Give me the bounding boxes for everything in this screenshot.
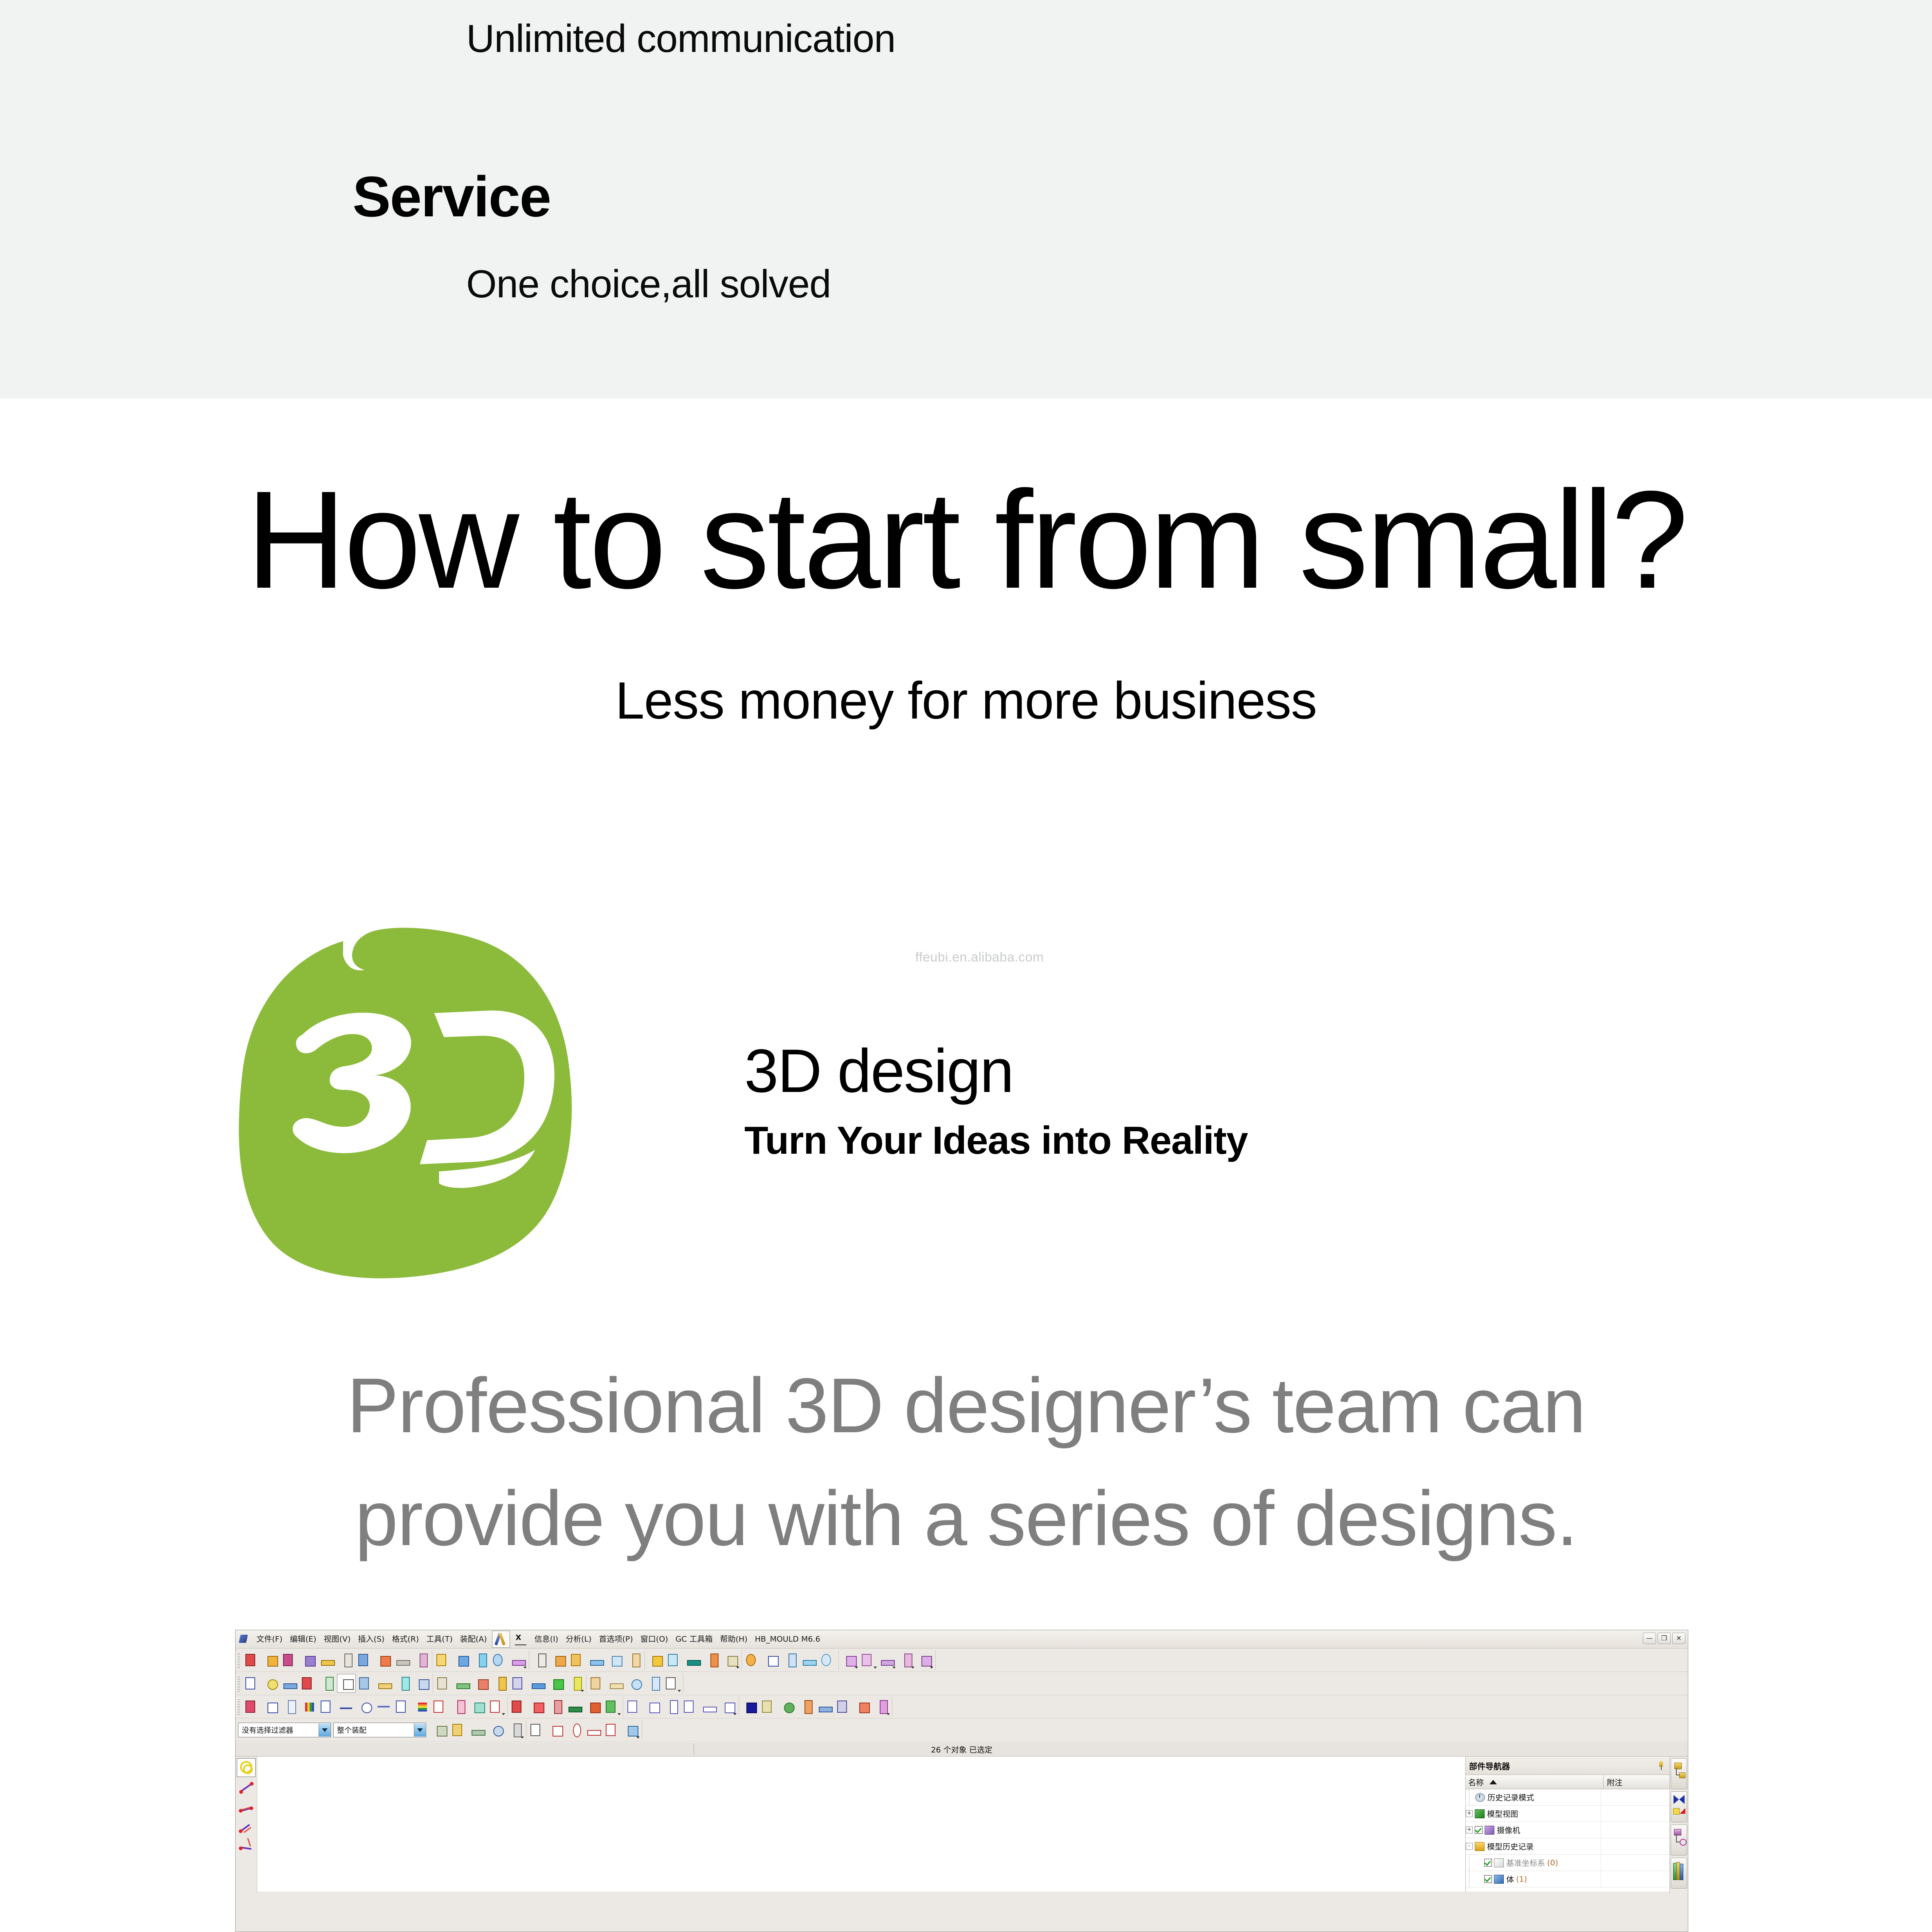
toolbar-icon-text[interactable] [394,1674,412,1692]
toolbar-icon-sketch[interactable] [434,1651,452,1669]
header-tagline: Unlimited communication [466,16,895,61]
page-title: How to start from small? [0,470,1932,609]
tree-item-label: 模型历史记录 [1487,1841,1534,1852]
toolbar-icon-note[interactable] [487,1698,505,1716]
header-band: Unlimited communication Service One choi… [0,0,1932,399]
toolbar-icon-datum-plane[interactable] [531,1651,549,1669]
menu-item-gc-toolbox[interactable]: GC 工具箱 [672,1630,717,1648]
menu-item-hb-mould[interactable]: HB_MOULD M6.6 [751,1630,824,1648]
solid-body-icon [1494,1875,1504,1884]
toolbar-icon-snap-center[interactable] [487,1721,505,1739]
toolbar-icon-arc[interactable] [472,1651,490,1669]
tree-item-comment [1601,1806,1669,1822]
toolbar-icon-datum-feature[interactable] [663,1698,681,1716]
app-logo-icon [237,1633,251,1645]
toolbar-icon-loft[interactable] [587,1651,605,1669]
tree-item-history-mode[interactable]: 历史记录模式 [1466,1789,1669,1806]
cad-filter-bar: 没有选择过滤器 整个装配 [236,1719,1688,1742]
toolbar-icon-array[interactable] [510,1674,528,1692]
toolbar-icon-weld-symbol[interactable] [700,1698,718,1716]
toolbar-icon-section[interactable] [916,1651,934,1669]
toolbar-icon-cad-library[interactable] [741,1698,759,1716]
column-header-name[interactable]: 名称 [1466,1775,1604,1789]
selection-scope-value: 整个装配 [334,1725,370,1735]
part-navigator-title: 部件导航器 [1469,1760,1510,1772]
cad-status-bar: 26 个对象 已选定 [236,1742,1688,1757]
toolbar-icon-select-face[interactable] [431,1721,449,1739]
cube-icon [1475,1809,1485,1818]
toolbar-icon-snap-perpendicular[interactable] [603,1721,621,1739]
toolbar-icon-symmetric[interactable] [357,1674,375,1692]
resource-history-palette-icon[interactable] [1671,1858,1687,1889]
toolbar-icon-snap-tangent[interactable] [584,1721,602,1739]
toolbar-icon-studio[interactable] [800,1651,818,1669]
toolbar-icon-pocket[interactable] [318,1651,336,1669]
rail-icon-point-to-point[interactable] [237,1779,255,1797]
selection-filter-value: 没有选择过滤器 [238,1725,297,1735]
menu-item-file[interactable]: 文件(F) [253,1630,286,1648]
toolbar-icon-bridge-curve[interactable] [663,1674,681,1692]
toolbar-icon-fix[interactable] [337,1674,356,1693]
toolbar-icon-deviation[interactable] [878,1651,896,1669]
cad-menu-bar: 文件(F) 编辑(E) 视图(V) 插入(S) 格式(R) 工具(T) 装配(A… [236,1630,1688,1649]
cad-3d-viewport[interactable] [257,1757,1465,1892]
toolbar-icon-tolerance[interactable] [719,1698,737,1716]
menu-item-view[interactable]: 视图(V) [320,1630,355,1648]
logo-section: 3D design Turn Your Ideas into Reality [0,912,1932,1280]
restore-icon[interactable]: ❐ [1658,1633,1671,1644]
toolbar-icon-chamfer-curve[interactable] [607,1674,625,1692]
toolbar-icon-color[interactable] [548,1674,566,1692]
toolbar-group-curve [586,1674,683,1693]
tree-item-model-history[interactable]: - 模型历史记录 [1466,1838,1669,1855]
selection-filter-dropdown[interactable]: 没有选择过滤器 [238,1723,331,1737]
toolbar-group-edit [433,1674,586,1693]
toolbar-group-annotation [623,1697,739,1716]
toolbar-icon-rectangle[interactable] [393,1698,411,1716]
toolbar-grip[interactable] [237,1652,240,1668]
toolbar-icon-coincident[interactable] [243,1674,261,1692]
resource-reuse-library-icon[interactable] [1671,1824,1687,1856]
toolbar-icon-draft[interactable] [797,1698,815,1716]
rail-icon-parallel-constraint[interactable] [237,1818,255,1836]
tree-line [1469,1789,1474,1805]
column-header-name-label: 名称 [1468,1777,1484,1788]
description-line-1: Professional 3D designer’s team can [0,1350,1932,1462]
toolbar-icon-dimension[interactable] [625,1698,643,1716]
expander-icon[interactable]: + [1466,1810,1473,1817]
toolbar-icon-pattern[interactable] [684,1651,702,1669]
toolbar-icon-intersect-curve[interactable] [645,1674,663,1692]
description-text: Professional 3D designer’s team can prov… [0,1350,1932,1575]
toolbar-icon-object-display[interactable] [243,1698,261,1716]
tree-item-comment [1601,1838,1669,1854]
tree-item-comment [1601,1855,1669,1871]
selection-scope-dropdown[interactable]: 整个装配 [333,1723,426,1737]
rail-icon-perpendicular-constraint[interactable] [237,1838,255,1856]
cad-resource-bar [1669,1757,1688,1893]
close-icon[interactable]: ✕ [1672,1633,1685,1644]
tree-item-comment [1601,1822,1669,1838]
toolbar-icon-copy[interactable] [454,1674,472,1692]
description-line-2: provide you with a series of designs. [0,1462,1932,1575]
coordinate-system-icon [1494,1858,1504,1867]
toolbar-icon-shaded[interactable] [744,1651,762,1669]
expander-icon[interactable]: - [1466,1843,1473,1850]
part-navigator-title-bar: 部件导航器 [1466,1757,1669,1775]
toolbar-group-assembly [645,1650,742,1670]
toolbar-icon-snap-intersection[interactable] [506,1721,524,1739]
toolbar-icon-hidden-line[interactable] [781,1651,799,1669]
toolbar-grip[interactable] [237,1698,240,1715]
toolbar-group-selection [429,1720,526,1740]
cad-toolbar-row-3 [236,1695,1688,1719]
toolbar-icon-blend[interactable] [412,1651,430,1669]
toolbar-icon-section-view[interactable] [431,1698,449,1716]
menu-item-tools[interactable]: 工具(T) [422,1630,456,1648]
toolbar-icon-spectrum[interactable] [412,1698,430,1716]
toolbar-icon-thicken[interactable] [835,1698,853,1716]
toolbar-icon-hole[interactable] [281,1651,299,1669]
toolbar-icon-brush[interactable] [469,1698,487,1716]
toolbar-icon-fillet-curve[interactable] [588,1674,606,1692]
menu-item-format[interactable]: 格式(R) [388,1630,422,1648]
toolbar-group-render [742,1650,839,1670]
minimize-icon[interactable]: — [1643,1633,1656,1644]
part-navigator-header-row: 名称 附注 [1466,1775,1669,1789]
toolbar-icon-groove[interactable] [375,1651,393,1669]
cad-toolbar-row-1 [236,1649,1688,1672]
tree-item-label: 历史记录模式 [1487,1792,1534,1803]
rail-icon-csys-constraint[interactable] [237,1798,255,1816]
expander-icon[interactable]: + [1466,1826,1473,1833]
toolbar-icon-subtract[interactable] [528,1698,546,1716]
toolbar-icon-scale[interactable] [491,1674,509,1692]
tree-item-label: 模型视图 [1487,1808,1518,1819]
toolbar-icon-offset-curve[interactable] [375,1698,393,1716]
folder-icon [1475,1842,1485,1851]
toolbar-icon-wireframe[interactable] [762,1651,780,1669]
toolbar-icon-grid[interactable] [413,1674,431,1692]
chevron-down-icon[interactable] [414,1723,426,1737]
header-subtitle: One choice,all solved [466,262,831,307]
toolbar-group-surface [529,1650,645,1670]
tree-item-comment [1601,1871,1669,1887]
toolbar-group-display [241,1697,508,1716]
tree-line [1469,1871,1474,1887]
toolbar-icon-sphere[interactable] [778,1698,796,1716]
toolbar-group-constraints [241,1674,433,1693]
dimension-tool-button[interactable]: X [512,1631,530,1647]
toolbar-icon-extrude[interactable] [243,1651,261,1669]
checkbox-icon[interactable] [1475,1826,1483,1834]
toolbar-icon-snap-midpoint[interactable] [547,1721,565,1739]
toolbar-icon-transparency[interactable] [566,1674,584,1692]
toolbar-icon-balloon[interactable] [644,1698,662,1716]
column-header-comment-label: 附注 [1607,1777,1622,1788]
tree-item-count: (1) [1516,1875,1527,1884]
tree-item-body[interactable]: 体 (1) [1466,1871,1669,1887]
tree-item-label: 体 [1506,1874,1514,1885]
toolbar-icon-thread[interactable] [393,1651,411,1669]
menu-item-insert[interactable]: 插入(S) [354,1630,388,1648]
menu-item-assembly[interactable]: 装配(A) [456,1630,491,1648]
toolbar-icon-boss[interactable] [299,1651,317,1669]
toolbar-icon-revolve[interactable] [262,1651,280,1669]
toolbar-icon-slot[interactable] [356,1651,374,1669]
toolbar-icon-line-style[interactable] [337,1698,355,1716]
menu-item-help[interactable]: 帮助(H) [717,1630,751,1648]
toolbar-icon-curvature[interactable] [897,1651,915,1669]
clock-icon [1475,1793,1485,1802]
toolbar-icon-perpendicular[interactable] [299,1674,317,1692]
toolbar-icon-electrode[interactable] [872,1698,890,1716]
toolbar-icon-pattern-face[interactable] [318,1698,336,1716]
toolbar-icon-sweep[interactable] [568,1651,586,1669]
logo-text-block: 3D design Turn Your Ideas into Reality [744,1039,1248,1163]
toolbar-icon-mold-wizard[interactable] [759,1698,777,1716]
menu-item-preferences[interactable]: 首选项(P) [595,1630,636,1648]
toolbar-icon-mass-props[interactable] [859,1651,877,1669]
header-title: Service [353,164,550,230]
tree-item-count: (0) [1547,1858,1558,1867]
tree-item-label: 摄像机 [1497,1824,1520,1835]
part-navigator-panel: 部件导航器 名称 附注 历史记录模式 [1465,1757,1669,1892]
toolbar-icon-mate[interactable] [665,1651,683,1669]
toolbar-group-sketch [432,1650,529,1670]
toolbar-icon-rib[interactable] [816,1698,834,1716]
chevron-down-icon[interactable] [319,1723,330,1737]
toolbar-icon-tangent[interactable] [318,1674,336,1692]
toolbar-icon-spline[interactable] [509,1651,527,1669]
menu-item-analysis[interactable]: 分析(L) [562,1630,595,1648]
toolbar-icon-split-body[interactable] [584,1698,602,1716]
toolbar-group-analysis [839,1650,936,1670]
toolbar-icon-layer[interactable] [529,1674,547,1692]
checkbox-icon[interactable] [1484,1859,1492,1867]
toolbar-icon-snap-quadrant[interactable] [566,1721,584,1739]
toolbar-icon-shell[interactable] [603,1698,621,1716]
toolbar-icon-circle[interactable] [490,1651,508,1669]
sort-ascending-icon [1489,1780,1497,1784]
toolbar-icon-snap-endpoint[interactable] [528,1721,546,1739]
toolbar-icon-offset-surface[interactable] [606,1651,624,1669]
toolbar-icon-line[interactable] [453,1651,471,1669]
pin-icon[interactable] [1657,1761,1665,1770]
toolbar-icon-intersect[interactable] [547,1698,565,1716]
cad-application-window: 文件(F) 编辑(E) 视图(V) 插入(S) 格式(R) 工具(T) 装配(A… [235,1630,1688,1932]
tree-item-comment [1601,1789,1669,1805]
resource-part-navigator-icon[interactable] [1671,1791,1687,1822]
toolbar-icon-parallel[interactable] [281,1674,299,1692]
toolbar-icon-unite[interactable] [509,1698,527,1716]
toolbar-icon-explode[interactable] [722,1651,740,1669]
toolbar-icon-measure[interactable] [840,1651,858,1669]
resource-assembly-navigator-icon[interactable] [1671,1758,1687,1789]
toolbar-group-cad-tools [739,1697,892,1716]
toolbar-icon-pad[interactable] [337,1651,355,1669]
three-d-logo-icon [223,924,677,1284]
toolbar-icon-snap-settings[interactable] [622,1721,640,1739]
tree-item-cameras[interactable]: + 摄像机 [1466,1822,1669,1838]
cad-workspace: 部件导航器 名称 附注 历史记录模式 [236,1757,1688,1892]
rail-icon-constraint-coincident[interactable] [237,1758,256,1777]
toolbar-icon-add-component[interactable] [647,1651,665,1669]
toolbar-icon-concentric[interactable] [262,1674,280,1692]
toolbar-icon-sketch-curve[interactable] [450,1698,468,1716]
tree-item-model-views[interactable]: + 模型视图 [1466,1806,1669,1822]
toolbar-icon-ellipse[interactable] [356,1698,374,1716]
toolbar-icon-parting[interactable] [854,1698,872,1716]
menu-item-information[interactable]: 信息(I) [531,1630,562,1648]
column-header-comment[interactable]: 附注 [1604,1775,1669,1789]
toolbar-icon-trim[interactable] [625,1651,643,1669]
toolbar-group-modify [508,1697,623,1716]
cad-toolbar-row-2 [236,1672,1688,1695]
logo-title: 3D design [744,1039,1248,1103]
toolbar-grip[interactable] [237,1675,240,1692]
toolbar-icon-move-object[interactable] [281,1698,299,1716]
checkbox-icon[interactable] [1484,1875,1492,1883]
toolbar-group-feature [241,1650,432,1670]
toolbar-icon-box[interactable] [262,1698,280,1716]
status-text: 26 个对象 已选定 [236,1744,1688,1755]
toolbar-icon-mirror[interactable] [703,1651,721,1669]
camera-icon [1485,1826,1494,1835]
window-controls: — ❐ ✕ [1643,1633,1685,1644]
toolbar-icon-surface-finish[interactable] [681,1698,699,1716]
toolbar-icon-lighting[interactable] [819,1651,837,1669]
watermark: ffeubi.en.alibaba.com [915,950,1044,965]
tree-item-datum-csys[interactable]: 基准坐标系 (0) [1466,1855,1669,1871]
toolbar-group-snap [526,1720,642,1740]
toolbar-icon-datum-axis[interactable] [550,1651,568,1669]
toolbar-icon-snap-point[interactable] [469,1721,487,1739]
toolbar-icon-trim-body[interactable] [566,1698,584,1716]
toolbar-icon-equal[interactable] [375,1674,393,1692]
sketch-tool-button[interactable] [492,1631,510,1648]
toolbar-icon-move[interactable] [435,1674,453,1692]
toolbar-icon-project-curve[interactable] [626,1674,644,1692]
part-navigator-tree[interactable]: 历史记录模式 + 模型视图 + [1466,1789,1669,1892]
cad-left-toolbar [236,1757,257,1893]
toolbar-icon-delete[interactable] [472,1674,490,1692]
menu-item-edit[interactable]: 编辑(E) [286,1630,320,1648]
tree-line [1469,1855,1474,1871]
menu-item-window[interactable]: 窗口(O) [637,1630,672,1648]
page-subtitle: Less money for more business [0,671,1932,731]
logo-tagline: Turn Your Ideas into Reality [744,1118,1248,1163]
tree-item-label: 基准坐标系 [1506,1857,1545,1868]
toolbar-icon-palette[interactable] [299,1698,317,1716]
toolbar-icon-select-edge[interactable] [450,1721,468,1739]
